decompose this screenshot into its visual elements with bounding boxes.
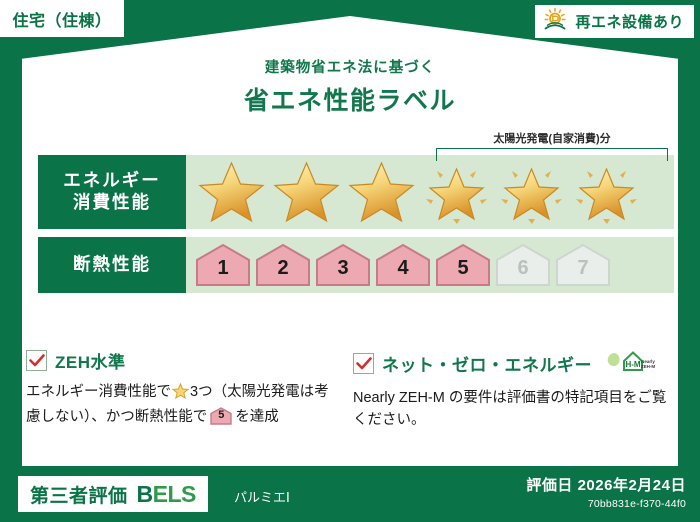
zeh-standard-column: ZEH水準 エネルギー消費性能で3つ（太陽光発電は考慮しない）、かつ断熱性能で5…: [26, 348, 353, 432]
info-columns: ZEH水準 エネルギー消費性能で3つ（太陽光発電は考慮しない）、かつ断熱性能で5…: [26, 348, 680, 432]
bels-logo-b: B: [137, 481, 153, 507]
document-id: 70bb831e-f370-44f0: [526, 498, 686, 510]
insulation-grade-badge: 1: [194, 243, 252, 287]
insulation-performance-label-cell: 断熱性能: [38, 237, 186, 293]
insulation-grade-badge: 3: [314, 243, 372, 287]
insulation-grade-badge-inactive: 6: [494, 243, 552, 287]
insulation-grade-badge-inactive: 7: [554, 243, 612, 287]
star-icon-solar: [569, 159, 644, 225]
insulation-grades-container: 1 2 3 4 5: [186, 237, 674, 293]
category-badge-label: 住宅（住棟）: [12, 7, 111, 31]
bels-japanese-label: 第三者評価: [30, 481, 128, 508]
energy-performance-row: エネルギー 消費性能: [38, 155, 674, 229]
net-zero-energy-column: ネット・ゼロ・エネルギー H-M Nearly ZEH-M Nearly ZEH…: [353, 348, 680, 432]
label-footer: 第三者評価 BELS パルミエⅠ 評価日 2026年2月24日 70bb831e…: [0, 466, 700, 522]
checkbox-checked-icon: [26, 350, 47, 371]
star-icon: [194, 159, 269, 225]
net-zero-energy-header: ネット・ゼロ・エネルギー H-M Nearly ZEH-M: [353, 348, 668, 379]
insulation-grade-value: 6: [517, 257, 528, 287]
zeh-m-house-logo: H-M Nearly ZEH-M: [604, 348, 656, 379]
bels-logo: BELS: [137, 481, 196, 508]
label-subtitle: 建築物省エネ法に基づく: [0, 56, 700, 77]
renewable-equipment-badge: 再エネ設備あり: [535, 5, 694, 38]
star-icon: [344, 159, 419, 225]
page-title: 省エネ性能ラベル: [0, 81, 700, 117]
insulation-grade-value: 4: [397, 257, 408, 287]
insulation-grade-value: 5: [457, 257, 468, 287]
energy-label-line1: エネルギー: [63, 170, 161, 192]
bels-certification-badge: 第三者評価 BELS: [18, 476, 208, 512]
insulation-grade-inline-badge: 5: [209, 407, 233, 425]
insulation-grade-inline-value: 5: [209, 407, 233, 424]
solar-sun-icon: [541, 7, 569, 36]
energy-stars-container: 太陽光発電(自家消費)分: [186, 155, 674, 229]
net-zero-energy-body: Nearly ZEH-M の要件は評価書の特記項目をご覧ください。: [353, 387, 668, 432]
zeh-m-logo-caption2: ZEH-M: [641, 364, 655, 369]
category-badge: 住宅（住棟）: [0, 0, 124, 37]
energy-performance-label-cell: エネルギー 消費性能: [38, 155, 186, 229]
insulation-grade-value: 7: [577, 257, 588, 287]
insulation-grade-value: 3: [337, 257, 348, 287]
zeh-m-logo-text: H-M: [625, 360, 640, 369]
renewable-badge-label: 再エネ設備あり: [575, 11, 684, 32]
evaluation-date-label: 評価日: [526, 477, 573, 494]
star-icon-solar: [494, 159, 569, 225]
evaluation-date: 評価日 2026年2月24日: [526, 474, 686, 495]
footer-meta: 評価日 2026年2月24日 70bb831e-f370-44f0: [526, 474, 686, 510]
star-icon: [269, 159, 344, 225]
insulation-grade-value: 1: [217, 257, 228, 287]
zeh-body-part3: を達成: [235, 409, 279, 425]
zeh-body-part1: エネルギー消費性能で: [26, 384, 171, 400]
performance-rows: エネルギー 消費性能: [38, 155, 674, 301]
insulation-label: 断熱性能: [73, 254, 151, 276]
insulation-grade-badge-achieved: 5: [434, 243, 492, 287]
star-icon-solar: [419, 159, 494, 225]
evaluation-date-value: 2026年2月24日: [578, 477, 686, 494]
energy-label-line2: 消費性能: [73, 192, 151, 214]
net-zero-energy-title: ネット・ゼロ・エネルギー: [382, 351, 592, 376]
building-name: パルミエⅠ: [234, 487, 290, 506]
energy-performance-label: 住宅（住棟） 再エネ設備あり 建築: [0, 0, 700, 522]
star-icon-inline: [172, 383, 189, 406]
bels-logo-els: ELS: [153, 481, 196, 507]
insulation-grade-value: 2: [277, 257, 288, 287]
zeh-standard-title: ZEH水準: [55, 348, 126, 373]
checkbox-checked-icon: [353, 353, 374, 374]
zeh-standard-body: エネルギー消費性能で3つ（太陽光発電は考慮しない）、かつ断熱性能で5を達成: [26, 381, 341, 429]
zeh-standard-header: ZEH水準: [26, 348, 341, 373]
insulation-grade-badge: 4: [374, 243, 432, 287]
label-titles: 建築物省エネ法に基づく 省エネ性能ラベル: [0, 56, 700, 117]
insulation-grade-badge: 2: [254, 243, 312, 287]
insulation-performance-row: 断熱性能 1 2 3 4: [38, 237, 674, 293]
